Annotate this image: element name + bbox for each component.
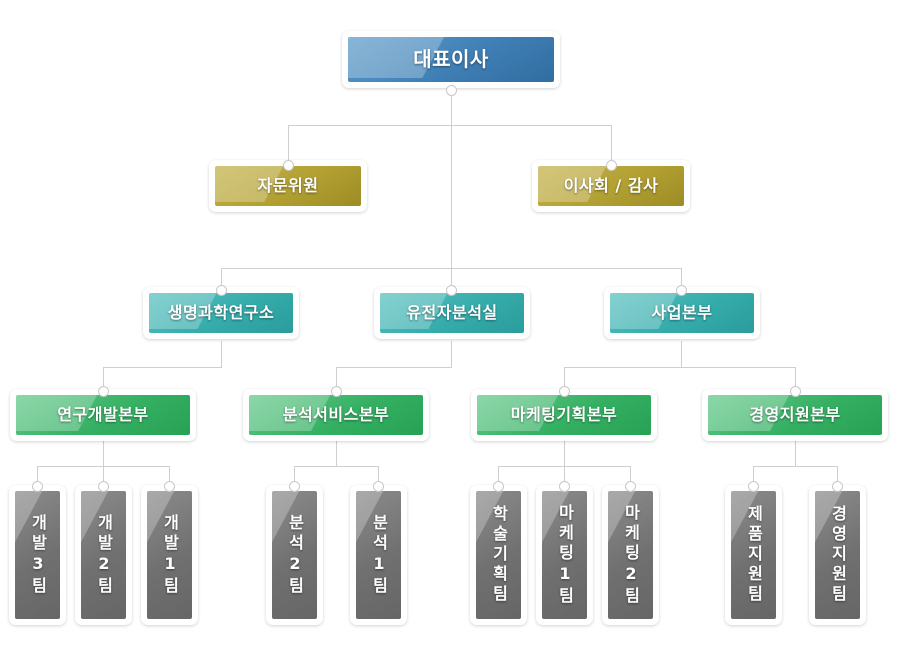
node-dot-analysis-hq (331, 386, 342, 397)
org-node-gene-lab-label: 유전자분석실 (406, 304, 497, 322)
org-node-academic-planning-team[interactable]: 학술기획팀 (470, 485, 527, 625)
node-dot-board (606, 160, 617, 171)
node-dot-business-hq (676, 285, 687, 296)
org-node-bio-institute-body: 생명과학연구소 (149, 293, 293, 333)
org-node-dev-team-3-label: 개발3팀 (30, 514, 46, 597)
node-dot-marketing-team-2 (625, 481, 636, 492)
org-node-dev-team-1-label: 개발1팀 (162, 514, 178, 597)
org-node-analysis-team-2[interactable]: 분석2팀 (266, 485, 323, 625)
org-node-management-support-team-label: 경영지원팀 (830, 505, 846, 605)
org-node-bio-institute-label: 생명과학연구소 (168, 304, 275, 322)
connector-business-hq-stem (681, 341, 682, 367)
org-node-ceo-label: 대표이사 (413, 48, 489, 71)
node-dot-product-support-team (748, 481, 759, 492)
node-dot-ceo (446, 85, 457, 96)
node-dot-dev-team-2 (98, 481, 109, 492)
org-node-rnd-hq-body: 연구개발본부 (16, 395, 190, 435)
org-node-product-support-team[interactable]: 제품지원팀 (725, 485, 782, 625)
org-node-marketing-team-1-label: 마케팅1팀 (557, 504, 573, 607)
org-node-marketing-team-1-body: 마케팅1팀 (542, 491, 587, 619)
org-node-product-support-team-body: 제품지원팀 (731, 491, 776, 619)
connector-advisory-bus (288, 125, 612, 126)
node-dot-management-hq (790, 386, 801, 397)
org-node-analysis-team-2-body: 분석2팀 (272, 491, 317, 619)
org-node-analysis-team-1-label: 분석1팀 (371, 514, 387, 597)
connector-board-drop (611, 125, 612, 165)
connector-business-hq-branch (564, 367, 796, 368)
org-node-management-support-team-body: 경영지원팀 (815, 491, 860, 619)
org-chart: 대표이사 자문위원 이사회 / 감사 생명과학연구소 유전자분석실 사업본부 연… (0, 0, 900, 653)
connector-gene-lab-branch (336, 367, 452, 368)
connector-analysis-hq-bus (294, 466, 379, 467)
org-node-academic-planning-team-label: 학술기획팀 (491, 505, 507, 605)
node-dot-rnd-hq (98, 386, 109, 397)
org-node-product-support-team-label: 제품지원팀 (746, 505, 762, 605)
node-dot-analysis-team-2 (289, 481, 300, 492)
org-node-dev-team-2[interactable]: 개발2팀 (75, 485, 132, 625)
org-node-dev-team-1-body: 개발1팀 (147, 491, 192, 619)
node-dot-marketing-team-1 (559, 481, 570, 492)
org-node-marketing-team-2-body: 마케팅2팀 (608, 491, 653, 619)
org-node-marketing-team-1[interactable]: 마케팅1팀 (536, 485, 593, 625)
org-node-advisor-label: 자문위원 (258, 177, 319, 195)
org-node-ceo[interactable]: 대표이사 (342, 31, 560, 88)
org-node-analysis-hq-body: 분석서비스본부 (249, 395, 423, 435)
org-node-dev-team-1[interactable]: 개발1팀 (141, 485, 198, 625)
org-node-analysis-team-2-label: 분석2팀 (287, 514, 303, 597)
org-node-marketing-hq-label: 마케팅기획본부 (511, 406, 618, 424)
org-node-management-hq-label: 경영지원본부 (749, 406, 840, 424)
node-dot-gene-lab (446, 285, 457, 296)
org-node-gene-lab-body: 유전자분석실 (380, 293, 524, 333)
connector-bio-institute-branch (103, 367, 222, 368)
org-node-business-hq-label: 사업본부 (652, 304, 713, 322)
connector-bio-institute-stem (221, 341, 222, 367)
org-node-board-body: 이사회 / 감사 (538, 166, 684, 206)
org-node-dev-team-3-body: 개발3팀 (15, 491, 60, 619)
org-node-marketing-team-2-label: 마케팅2팀 (623, 504, 639, 607)
org-node-rnd-hq-label: 연구개발본부 (57, 406, 148, 424)
node-dot-bio-institute (216, 285, 227, 296)
org-node-management-hq-body: 경영지원본부 (708, 395, 882, 435)
org-node-dev-team-2-body: 개발2팀 (81, 491, 126, 619)
connector-advisor-drop (288, 125, 289, 165)
org-node-analysis-hq-label: 분석서비스본부 (283, 406, 390, 424)
node-dot-dev-team-1 (164, 481, 175, 492)
org-node-business-hq-body: 사업본부 (610, 293, 754, 333)
node-dot-management-support-team (832, 481, 843, 492)
org-node-ceo-body: 대표이사 (348, 37, 554, 82)
org-node-analysis-team-1-body: 분석1팀 (356, 491, 401, 619)
org-node-analysis-team-1[interactable]: 분석1팀 (350, 485, 407, 625)
org-node-marketing-team-2[interactable]: 마케팅2팀 (602, 485, 659, 625)
connector-rnd-hq-stem (103, 441, 104, 466)
node-dot-dev-team-3 (32, 481, 43, 492)
connector-ceo-trunk (451, 90, 452, 268)
connector-marketing-hq-stem (564, 441, 565, 466)
connector-management-hq-bus (753, 466, 838, 467)
connector-analysis-hq-stem (336, 441, 337, 466)
connector-gene-lab-stem (451, 341, 452, 367)
org-node-dev-team-3[interactable]: 개발3팀 (9, 485, 66, 625)
connector-management-hq-stem (795, 441, 796, 466)
org-node-management-support-team[interactable]: 경영지원팀 (809, 485, 866, 625)
org-node-board-label: 이사회 / 감사 (564, 177, 659, 195)
node-dot-marketing-hq (559, 386, 570, 397)
org-node-academic-planning-team-body: 학술기획팀 (476, 491, 521, 619)
node-dot-advisor (283, 160, 294, 171)
org-node-dev-team-2-label: 개발2팀 (96, 514, 112, 597)
node-dot-academic-planning-team (493, 481, 504, 492)
node-dot-analysis-team-1 (373, 481, 384, 492)
org-node-advisor-body: 자문위원 (215, 166, 361, 206)
org-node-marketing-hq-body: 마케팅기획본부 (477, 395, 651, 435)
